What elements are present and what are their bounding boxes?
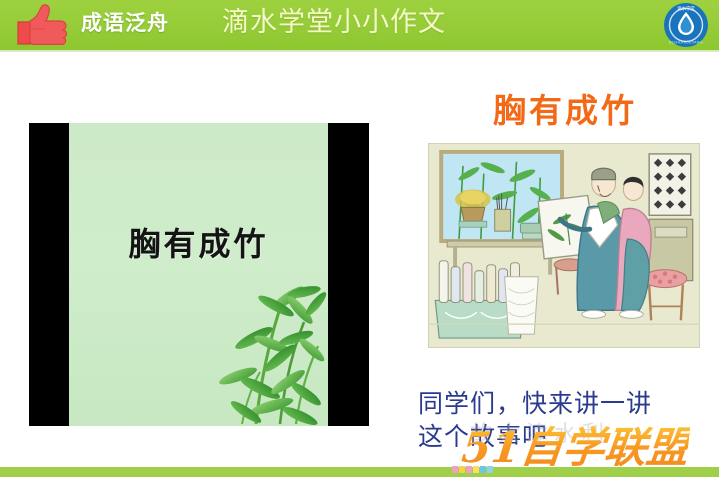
brand-title: 成语泛舟: [81, 9, 169, 37]
story-illustration: [428, 143, 700, 348]
watermark-ghost-text: 故大津水利: [470, 416, 610, 448]
svg-text:滴水学堂: 滴水学堂: [677, 5, 695, 12]
footer-color-swatches: [452, 466, 493, 473]
footer-swatch: [480, 466, 486, 473]
idiom-title: 胸有成竹: [430, 84, 700, 132]
footer-swatch: [452, 466, 458, 473]
footer-swatch: [459, 466, 465, 473]
header-underline-divider: [0, 50, 719, 52]
thumbs-up-icon: [8, 2, 72, 48]
footer-bar: [0, 467, 719, 477]
footer-swatch: [487, 466, 493, 473]
brand-subtitle: 滴水学堂小小作文: [222, 5, 446, 41]
slide-video-player[interactable]: 胸有成竹: [29, 123, 369, 426]
bamboo-illustration-icon: [184, 246, 328, 426]
svg-text:DISHUIXUETANG: DISHUIXUETANG: [669, 41, 703, 45]
water-drop-logo-icon[interactable]: 滴水学堂 DISHUIXUETANG: [663, 2, 709, 48]
app-header-bar: 成语泛舟 滴水学堂小小作文 滴水学堂 DISHUIXUETANG: [0, 0, 719, 50]
story-prompt-line-1: 同学们，快来讲一讲: [418, 388, 710, 419]
slide-stage: 胸有成竹: [69, 123, 328, 426]
footer-swatch: [473, 466, 479, 473]
footer-swatch: [466, 466, 472, 473]
